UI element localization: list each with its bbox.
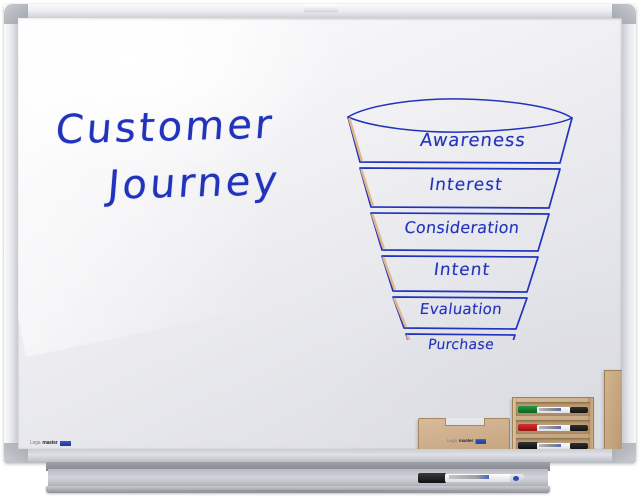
frame-right-edge <box>621 4 636 463</box>
marker-brand-label <box>539 444 561 447</box>
brand-text-bold: master <box>459 439 473 444</box>
marker-cap-black <box>418 473 446 483</box>
funnel-shade-purchase <box>408 336 417 340</box>
marker-slot-2[interactable] <box>516 420 590 434</box>
handwritten-title-line-1: Customer <box>54 101 318 154</box>
marker-brand-label <box>449 475 489 479</box>
brand-text-light: Lega <box>30 441 40 446</box>
funnel-shade-intent <box>384 258 395 289</box>
marker-end-dot <box>513 476 519 481</box>
marker-end-plug <box>570 443 588 449</box>
marker-green[interactable] <box>518 406 588 413</box>
marker-slot-1[interactable] <box>516 402 590 416</box>
brand-text-bold: master <box>42 441 57 446</box>
funnel-rim-top-back <box>348 99 572 118</box>
frame-left-edge <box>4 4 19 463</box>
marker-brand-label <box>539 408 561 411</box>
marker-end-plug <box>570 425 588 431</box>
funnel-band-awareness <box>348 117 572 163</box>
whiteboard-writing-surface[interactable]: Customer Journey <box>18 18 622 449</box>
frame-bottom-edge <box>4 449 636 463</box>
marker-cap-black <box>518 442 538 449</box>
screenshot-canvas: Customer Journey <box>0 0 640 501</box>
legamaster-logo-board: Lega master <box>30 441 71 446</box>
brand-accent-block <box>475 439 485 444</box>
funnel-shade-interest <box>362 170 373 205</box>
handwritten-title: Customer Journey <box>56 104 316 206</box>
marker-red[interactable] <box>518 424 588 431</box>
funnel-band-interest <box>360 168 560 208</box>
marker-cap-green <box>518 406 538 413</box>
handdrawn-funnel-diagram: Awareness Interest Consideration Intent … <box>336 90 584 340</box>
marker-black[interactable] <box>518 442 588 449</box>
funnel-band-evaluation <box>393 297 527 329</box>
cardboard-marker-holder[interactable] <box>512 397 594 449</box>
funnel-shade-consideration <box>373 215 384 248</box>
brand-accent-block <box>60 441 71 446</box>
wall-mount-clip <box>304 5 338 11</box>
funnel-shade-evaluation <box>395 299 406 326</box>
cardboard-eraser-card[interactable]: Lega master <box>418 418 510 449</box>
board-drop-shadow <box>18 490 618 497</box>
cardboard-upright-card[interactable] <box>604 370 622 449</box>
whiteboard: Customer Journey <box>4 4 636 463</box>
marker-end-plug <box>570 407 588 413</box>
funnel-band-purchase <box>406 334 515 340</box>
brand-text-light: Lega <box>447 439 457 444</box>
funnel-band-intent <box>382 256 538 292</box>
funnel-svg <box>336 90 584 340</box>
legamaster-logo-eraser: Lega master <box>447 439 486 444</box>
marker-slot-3[interactable] <box>516 438 590 449</box>
marker-brand-label <box>539 426 561 429</box>
handwritten-title-line-2: Journey <box>106 157 318 208</box>
funnel-band-consideration <box>371 213 549 251</box>
marker-cap-red <box>518 424 538 431</box>
eraser-card-notch <box>445 418 485 426</box>
funnel-shade-awareness <box>350 119 362 160</box>
funnel-rim-top-front <box>348 117 572 132</box>
pen-tray-marker-black[interactable] <box>418 473 524 483</box>
